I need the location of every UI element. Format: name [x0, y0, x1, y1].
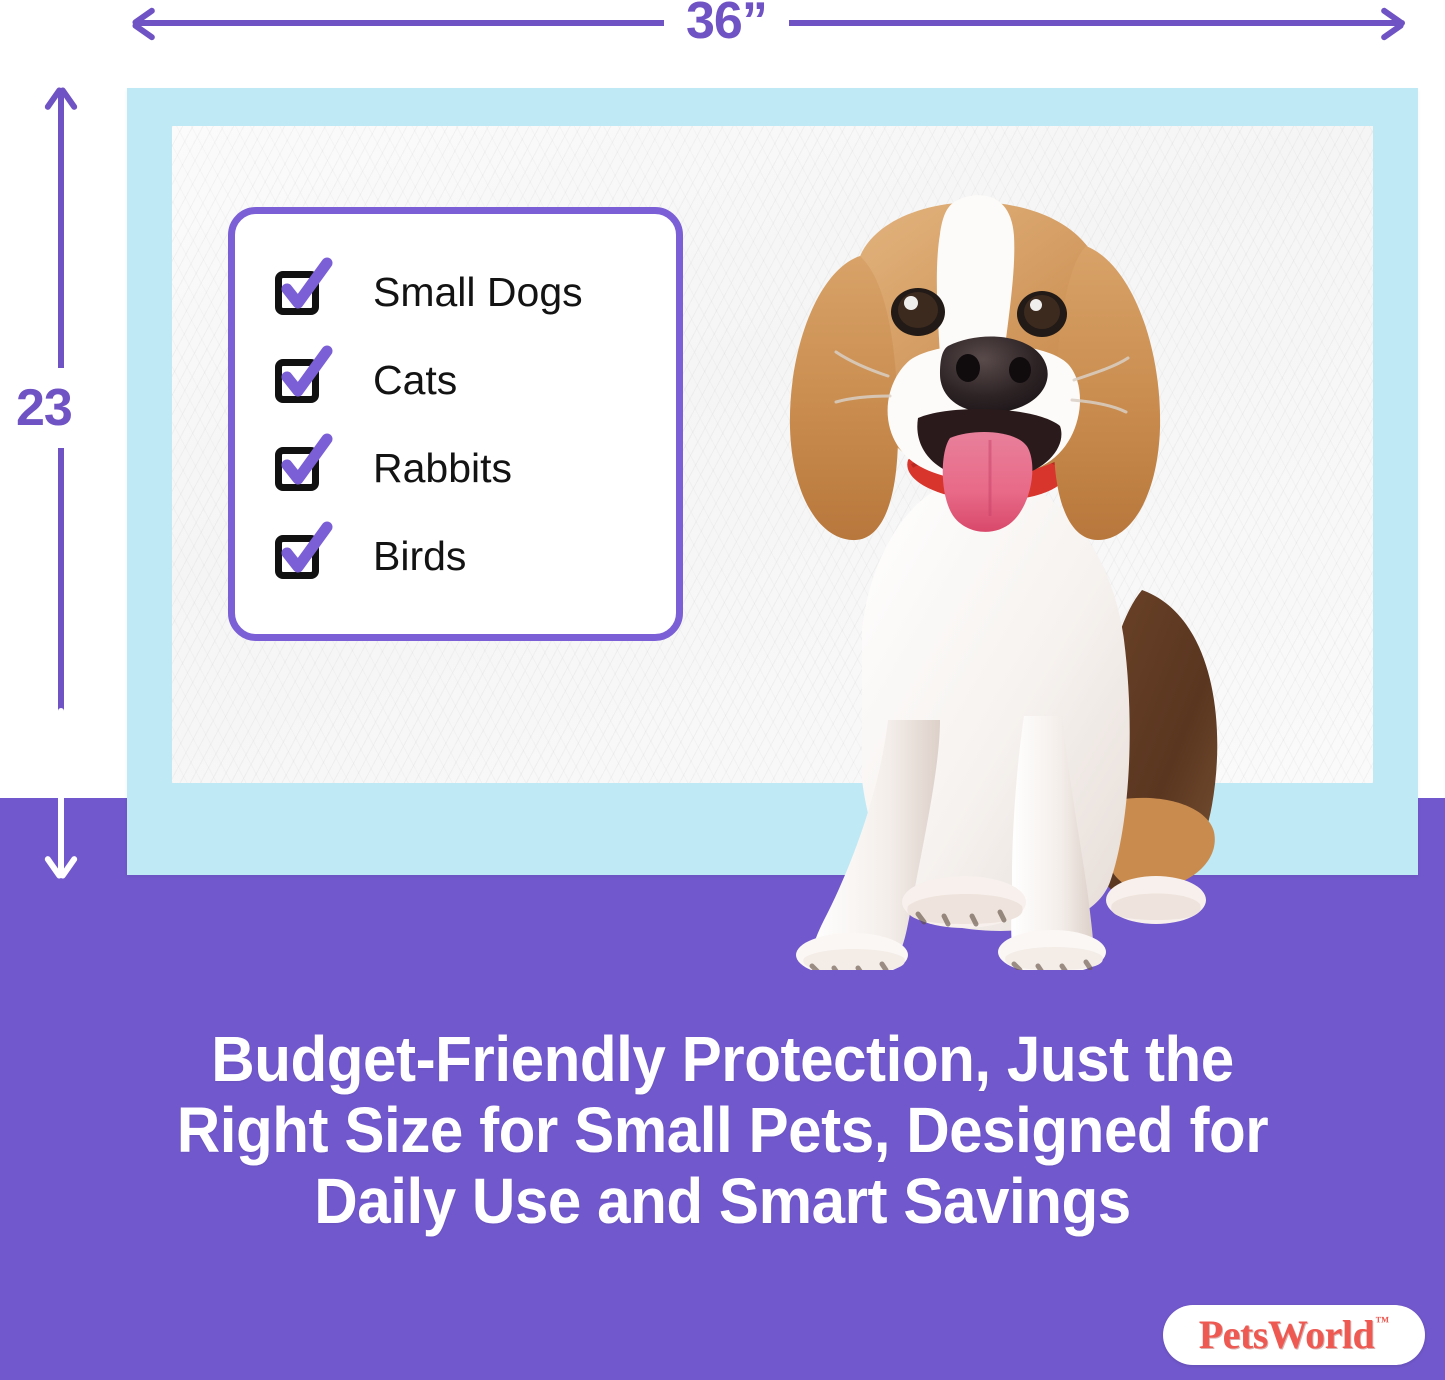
checklist-label: Birds [373, 533, 466, 580]
headline-line-2: Right Size for Small Pets, Designed for [43, 1095, 1401, 1166]
brand-logo: PetsWorld ™ [1163, 1305, 1425, 1365]
checklist-item[interactable]: Small Dogs [271, 258, 676, 326]
checkbox-checked-icon[interactable] [271, 351, 333, 409]
beagle-dog-photo [712, 160, 1252, 970]
trademark-symbol: ™ [1375, 1315, 1389, 1331]
compatible-pets-checklist: Small Dogs Cats Rabbits Birds [228, 207, 683, 641]
arrow-right-head-icon [1375, 7, 1407, 39]
height-dimension-arrow [38, 88, 84, 878]
checklist-label: Cats [373, 357, 457, 404]
headline-line-1: Budget-Friendly Protection, Just the [43, 1024, 1401, 1095]
arrow-up-head-icon [45, 86, 77, 118]
arrow-left-head-icon [131, 7, 163, 39]
width-label: 36” [664, 0, 789, 50]
checklist-item[interactable]: Birds [271, 522, 676, 590]
checkbox-checked-icon[interactable] [271, 439, 333, 497]
height-label: 23 [10, 368, 78, 448]
headline: Budget-Friendly Protection, Just the Rig… [43, 1024, 1401, 1237]
headline-line-3: Daily Use and Smart Savings [43, 1166, 1401, 1237]
height-arrow-line-lower [58, 708, 64, 878]
brand-name: PetsWorld [1199, 1313, 1374, 1357]
checklist-item[interactable]: Rabbits [271, 434, 676, 502]
checklist-item[interactable]: Cats [271, 346, 676, 414]
checklist-label: Small Dogs [373, 269, 583, 316]
checklist-label: Rabbits [373, 445, 512, 492]
checkbox-checked-icon[interactable] [271, 263, 333, 321]
checkbox-checked-icon[interactable] [271, 527, 333, 585]
